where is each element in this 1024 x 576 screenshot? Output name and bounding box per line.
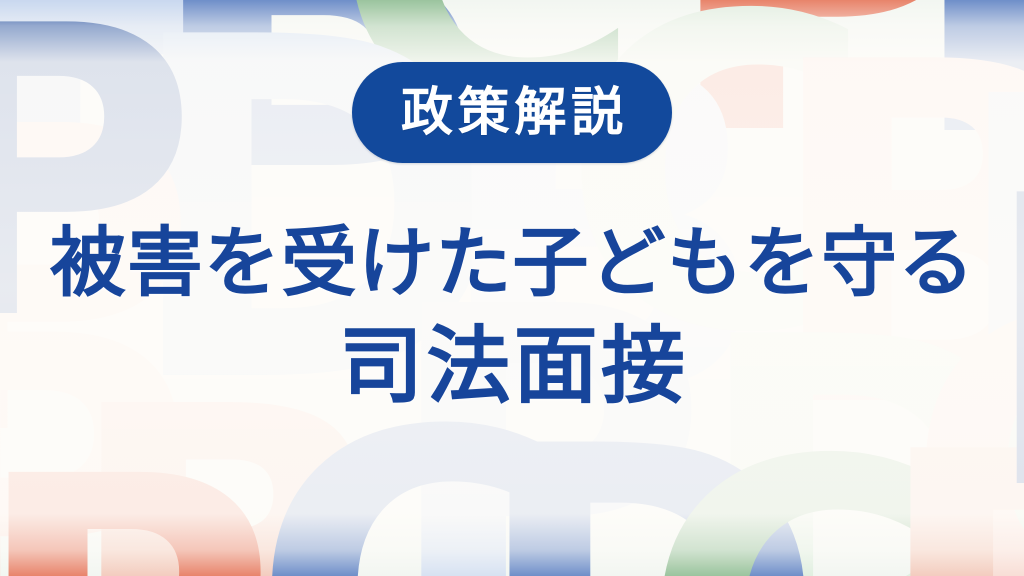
thumbnail-card: PBCPBDPBCBDPDCPBCDPCDBP 政策解説 被害を受けた子どもを守… xyxy=(0,0,1024,576)
background-letter-p: P xyxy=(0,470,261,576)
headline-line-2: 司法面接 xyxy=(0,324,1024,408)
headline-line-1: 被害を受けた子どもを守る xyxy=(0,226,1024,302)
headline-block: 被害を受けた子どもを守る 司法面接 xyxy=(0,226,1024,408)
category-badge[interactable]: 政策解説 xyxy=(352,62,671,163)
category-badge-label: 政策解説 xyxy=(396,87,627,139)
badge-container: 政策解説 xyxy=(0,62,1024,163)
